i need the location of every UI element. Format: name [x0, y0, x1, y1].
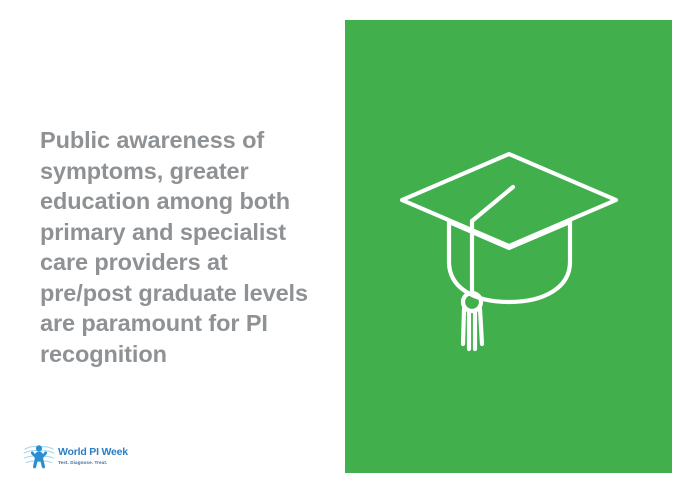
world-pi-week-figure-icon	[22, 441, 56, 471]
illustration-panel	[345, 20, 672, 473]
logo-tagline: Test. Diagnose. Treat.	[58, 459, 128, 466]
logo-text-group: World PI Week Test. Diagnose. Treat.	[58, 447, 128, 466]
world-pi-week-logo: World PI Week Test. Diagnose. Treat.	[22, 440, 137, 472]
page-title: Public awareness of symptoms, greater ed…	[40, 125, 310, 369]
headline-block: Public awareness of symptoms, greater ed…	[40, 125, 310, 369]
logo-title: World PI Week	[58, 447, 128, 458]
graduation-cap-icon	[394, 132, 624, 362]
slide-canvas: Public awareness of symptoms, greater ed…	[0, 0, 696, 493]
